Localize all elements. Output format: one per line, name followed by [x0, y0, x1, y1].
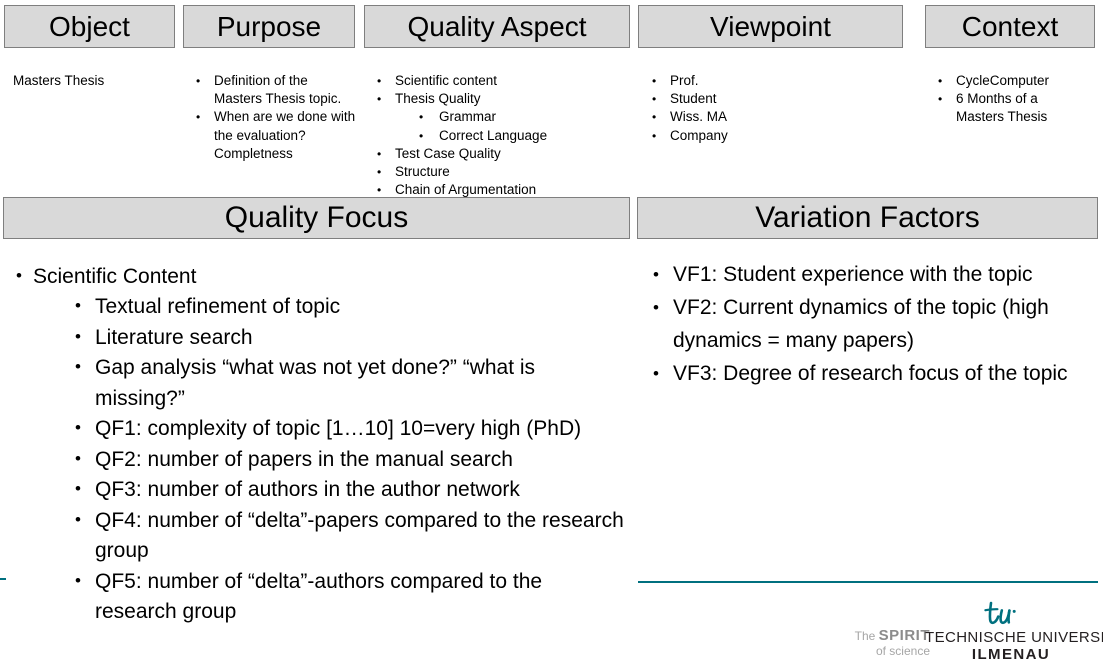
- quality-aspect-item-3: Correct Language: [439, 128, 547, 143]
- header-box-purpose: Purpose: [183, 5, 355, 48]
- spirit-word: SPIRIT: [879, 627, 930, 644]
- quality-aspect-column-list: Scientific content Thesis Quality Gramma…: [373, 72, 635, 218]
- qf-item-6: QF3: number of authors in the author net…: [95, 478, 520, 501]
- header-label-variation-factors: Variation Factors: [755, 203, 980, 233]
- list-item: Literature search: [7, 323, 627, 354]
- viewpoint-item-0: Prof.: [670, 73, 699, 88]
- list-item: Scientific Content: [7, 261, 627, 292]
- header-box-variation-factors: Variation Factors: [637, 197, 1098, 239]
- list-item: Definition of the Masters Thesis topic.: [192, 72, 357, 108]
- vf-item-1: VF2: Current dynamics of the topic (high…: [673, 296, 1049, 352]
- variation-factors-list: VF1: Student experience with the topic V…: [645, 258, 1085, 390]
- list-item: Test Case Quality: [373, 145, 635, 163]
- vf-item-2: VF3: Degree of research focus of the top…: [673, 362, 1068, 385]
- header-label-purpose: Purpose: [217, 13, 321, 41]
- context-item-0: CycleComputer: [956, 73, 1049, 88]
- tu-ilmenau-logo: TECHNISCHE UNIVERSITÄT ILMENAU: [925, 600, 1097, 663]
- qf-item-4: QF1: complexity of topic [1…10] 10=very …: [95, 417, 581, 440]
- purpose-item-1: When are we done with the evaluation? Co…: [214, 109, 355, 160]
- list-item: QF2: number of papers in the manual sear…: [7, 445, 627, 476]
- list-item: Structure: [373, 163, 635, 181]
- context-column-list: CycleComputer 6 Months of a Masters Thes…: [934, 72, 1084, 127]
- list-item: Student: [648, 90, 888, 108]
- list-item: QF3: number of authors in the author net…: [7, 475, 627, 506]
- qf-item-8: QF5: number of “delta”-authors compared …: [95, 570, 542, 624]
- object-value: Masters Thesis: [13, 73, 104, 88]
- list-item: Thesis Quality: [373, 90, 635, 108]
- list-item: VF2: Current dynamics of the topic (high…: [645, 291, 1085, 357]
- header-label-object: Object: [49, 13, 130, 41]
- accent-rule-footer: [638, 581, 1098, 583]
- list-item: Grammar: [373, 108, 635, 126]
- spirit-line1: The SPIRIT: [855, 629, 930, 643]
- quality-focus-list: Scientific Content Textual refinement of…: [7, 261, 627, 628]
- quality-aspect-item-0: Scientific content: [395, 73, 497, 88]
- viewpoint-item-2: Wiss. MA: [670, 109, 727, 124]
- tu-script-logo-icon: [925, 600, 1097, 628]
- header-box-viewpoint: Viewpoint: [638, 5, 903, 48]
- quality-aspect-item-2: Grammar: [439, 109, 496, 124]
- header-label-quality-aspect: Quality Aspect: [408, 13, 587, 41]
- quality-aspect-item-5: Structure: [395, 164, 450, 179]
- list-item: Prof.: [648, 72, 888, 90]
- list-item: QF5: number of “delta”-authors compared …: [7, 567, 627, 628]
- purpose-item-0: Definition of the Masters Thesis topic.: [214, 73, 341, 106]
- spirit-prefix: The: [855, 629, 879, 643]
- university-line2: ILMENAU: [925, 646, 1097, 663]
- list-item: QF4: number of “delta”-papers compared t…: [7, 506, 627, 567]
- header-label-viewpoint: Viewpoint: [710, 13, 831, 41]
- header-box-context: Context: [925, 5, 1095, 48]
- qf-item-7: QF4: number of “delta”-papers compared t…: [95, 509, 624, 563]
- list-item: Scientific content: [373, 72, 635, 90]
- list-item: When are we done with the evaluation? Co…: [192, 108, 357, 163]
- purpose-column-list: Definition of the Masters Thesis topic. …: [192, 72, 357, 163]
- spirit-sub: of science: [820, 644, 930, 659]
- vf-item-0: VF1: Student experience with the topic: [673, 263, 1033, 286]
- list-item: 6 Months of a Masters Thesis: [934, 90, 1084, 126]
- object-column-text: Masters Thesis: [13, 72, 173, 90]
- list-item: VF1: Student experience with the topic: [645, 258, 1085, 291]
- viewpoint-item-3: Company: [670, 128, 728, 143]
- quality-aspect-item-6: Chain of Argumentation: [395, 182, 536, 197]
- header-label-context: Context: [962, 13, 1059, 41]
- viewpoint-item-1: Student: [670, 91, 717, 106]
- list-item: Company: [648, 127, 888, 145]
- list-item: CycleComputer: [934, 72, 1084, 90]
- list-item: Gap analysis “what was not yet done?” “w…: [7, 353, 627, 414]
- qf-item-1: Textual refinement of topic: [95, 295, 340, 318]
- quality-aspect-item-4: Test Case Quality: [395, 146, 501, 161]
- header-box-object: Object: [4, 5, 175, 48]
- qf-item-0: Scientific Content: [33, 265, 196, 288]
- spirit-of-science-logo: The SPIRIT of science: [820, 628, 930, 659]
- context-item-1: 6 Months of a Masters Thesis: [956, 91, 1047, 124]
- list-item: Wiss. MA: [648, 108, 888, 126]
- list-item: Correct Language: [373, 127, 635, 145]
- list-item: QF1: complexity of topic [1…10] 10=very …: [7, 414, 627, 445]
- quality-aspect-item-1: Thesis Quality: [395, 91, 481, 106]
- qf-item-2: Literature search: [95, 326, 253, 349]
- viewpoint-column-list: Prof. Student Wiss. MA Company: [648, 72, 888, 145]
- list-item: Textual refinement of topic: [7, 292, 627, 323]
- accent-dash-left: [0, 578, 6, 580]
- qf-item-5: QF2: number of papers in the manual sear…: [95, 448, 513, 471]
- list-item: VF3: Degree of research focus of the top…: [645, 357, 1085, 390]
- header-box-quality-focus: Quality Focus: [3, 197, 630, 239]
- header-label-quality-focus: Quality Focus: [225, 203, 408, 233]
- header-box-quality-aspect: Quality Aspect: [364, 5, 630, 48]
- qf-item-3: Gap analysis “what was not yet done?” “w…: [95, 356, 535, 410]
- university-line1: TECHNISCHE UNIVERSITÄT: [925, 629, 1097, 646]
